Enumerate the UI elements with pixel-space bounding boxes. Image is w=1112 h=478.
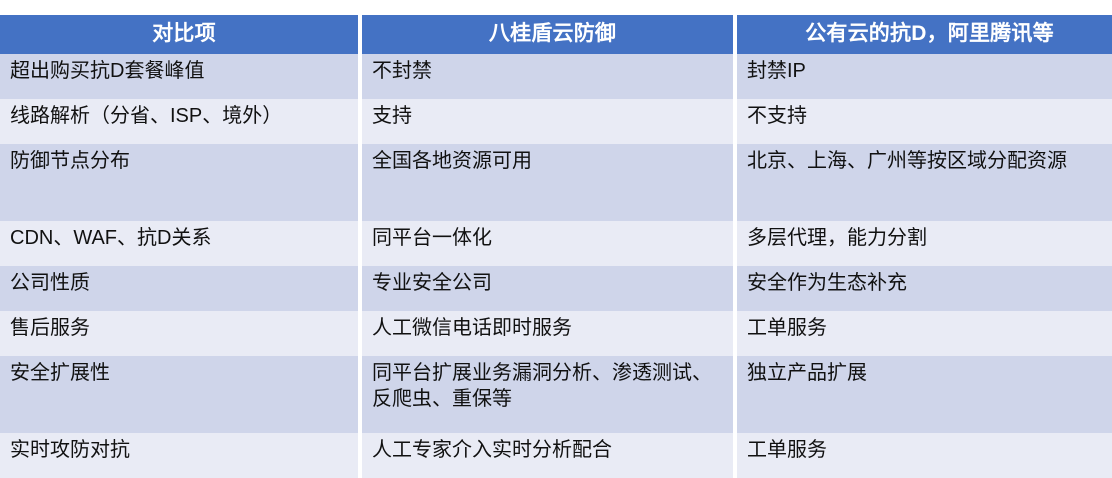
cell-public-cloud: 封禁IP: [737, 54, 1112, 99]
cell-item: 实时攻防对抗: [0, 433, 358, 478]
cell-public-cloud: 安全作为生态补充: [737, 266, 1112, 311]
table-row: 防御节点分布 全国各地资源可用 北京、上海、广州等按区域分配资源: [0, 144, 1112, 221]
cell-text: 实时攻防对抗: [10, 438, 350, 464]
cell-text: 线路解析（分省、ISP、境外）: [10, 104, 350, 130]
cell-text: 同平台扩展业务漏洞分析、渗透测试、反爬虫、重保等: [372, 361, 725, 412]
cell-text: 防御节点分布: [10, 149, 350, 175]
cell-public-cloud: 不支持: [737, 99, 1112, 144]
cell-text: 多层代理，能力分割: [747, 226, 1104, 252]
comparison-table: 对比项 八桂盾云防御 公有云的抗D，阿里腾讯等 超出购买抗D套餐峰值 不封禁 封…: [0, 15, 1112, 478]
table-body: 超出购买抗D套餐峰值 不封禁 封禁IP 线路解析（分省、ISP、境外） 支持 不…: [0, 54, 1112, 478]
cell-item: 售后服务: [0, 311, 358, 356]
cell-text: 支持: [372, 104, 725, 130]
cell-text: 不支持: [747, 104, 1104, 130]
cell-item: CDN、WAF、抗D关系: [0, 221, 358, 266]
cell-public-cloud: 工单服务: [737, 433, 1112, 478]
cell-text: CDN、WAF、抗D关系: [10, 226, 350, 252]
cell-public-cloud: 多层代理，能力分割: [737, 221, 1112, 266]
cell-text: 安全扩展性: [10, 361, 350, 387]
cell-baguidun: 专业安全公司: [362, 266, 733, 311]
table-header-row: 对比项 八桂盾云防御 公有云的抗D，阿里腾讯等: [0, 15, 1112, 54]
cell-text: 不封禁: [372, 59, 725, 85]
cell-baguidun: 同平台扩展业务漏洞分析、渗透测试、反爬虫、重保等: [362, 356, 733, 433]
table-row: 安全扩展性 同平台扩展业务漏洞分析、渗透测试、反爬虫、重保等 独立产品扩展: [0, 356, 1112, 433]
table-header: 对比项 八桂盾云防御 公有云的抗D，阿里腾讯等: [0, 15, 1112, 54]
cell-text: 超出购买抗D套餐峰值: [10, 59, 350, 85]
cell-baguidun: 不封禁: [362, 54, 733, 99]
cell-baguidun: 人工专家介入实时分析配合: [362, 433, 733, 478]
cell-baguidun: 同平台一体化: [362, 221, 733, 266]
cell-public-cloud: 独立产品扩展: [737, 356, 1112, 433]
cell-text: 独立产品扩展: [747, 361, 1104, 387]
cell-baguidun: 人工微信电话即时服务: [362, 311, 733, 356]
cell-baguidun: 支持: [362, 99, 733, 144]
cell-item: 安全扩展性: [0, 356, 358, 433]
cell-text: 封禁IP: [747, 59, 1104, 85]
cell-text: 公司性质: [10, 271, 350, 297]
cell-baguidun: 全国各地资源可用: [362, 144, 733, 221]
cell-text: 工单服务: [747, 438, 1104, 464]
table-row: 线路解析（分省、ISP、境外） 支持 不支持: [0, 99, 1112, 144]
column-header-comparison-item: 对比项: [0, 15, 358, 54]
cell-text: 人工微信电话即时服务: [372, 316, 725, 342]
table-row: 售后服务 人工微信电话即时服务 工单服务: [0, 311, 1112, 356]
cell-item: 超出购买抗D套餐峰值: [0, 54, 358, 99]
cell-text: 专业安全公司: [372, 271, 725, 297]
table-row: 超出购买抗D套餐峰值 不封禁 封禁IP: [0, 54, 1112, 99]
cell-text: 安全作为生态补充: [747, 271, 1104, 297]
cell-text: 同平台一体化: [372, 226, 725, 252]
cell-text: 售后服务: [10, 316, 350, 342]
cell-item: 防御节点分布: [0, 144, 358, 221]
table-row: 公司性质 专业安全公司 安全作为生态补充: [0, 266, 1112, 311]
column-header-baguidun: 八桂盾云防御: [362, 15, 733, 54]
table-row: 实时攻防对抗 人工专家介入实时分析配合 工单服务: [0, 433, 1112, 478]
column-header-public-cloud: 公有云的抗D，阿里腾讯等: [737, 15, 1112, 54]
cell-item: 线路解析（分省、ISP、境外）: [0, 99, 358, 144]
cell-text: 工单服务: [747, 316, 1104, 342]
table-row: CDN、WAF、抗D关系 同平台一体化 多层代理，能力分割: [0, 221, 1112, 266]
cell-public-cloud: 北京、上海、广州等按区域分配资源: [737, 144, 1112, 221]
cell-text: 全国各地资源可用: [372, 149, 725, 175]
cell-item: 公司性质: [0, 266, 358, 311]
cell-public-cloud: 工单服务: [737, 311, 1112, 356]
cell-text: 人工专家介入实时分析配合: [372, 438, 725, 464]
cell-text: 北京、上海、广州等按区域分配资源: [747, 149, 1104, 175]
